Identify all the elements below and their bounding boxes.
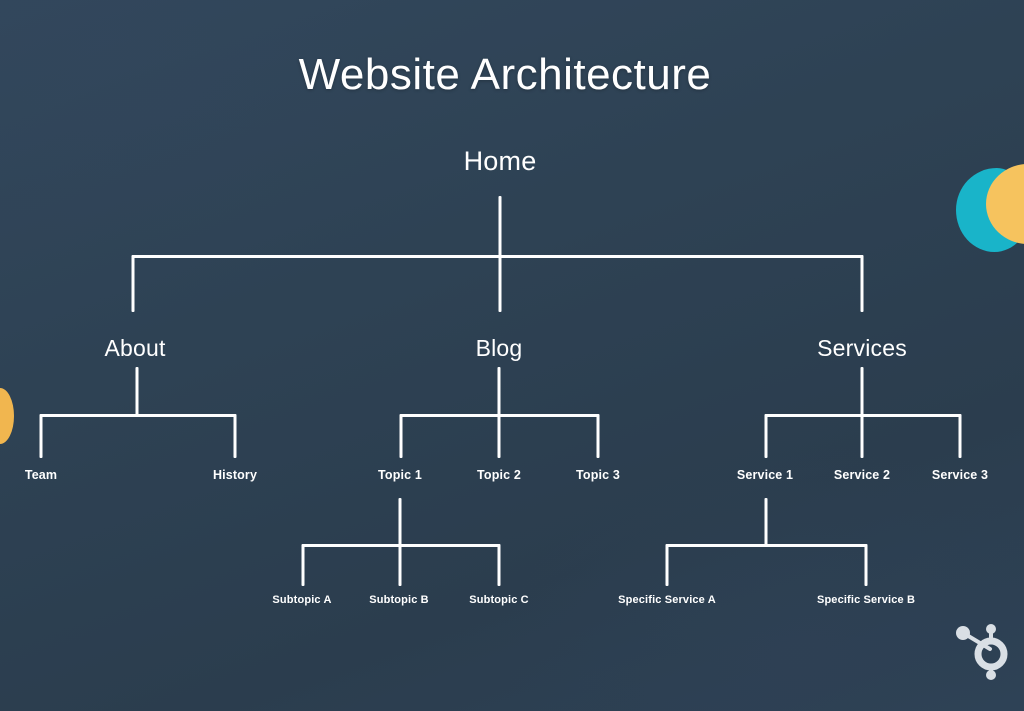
connector-services-stem — [861, 367, 864, 415]
node-subtopic-a[interactable]: Subtopic A — [272, 594, 331, 606]
node-team[interactable]: Team — [25, 468, 57, 482]
node-services[interactable]: Services — [817, 335, 907, 362]
connector-topic-1-stem — [399, 498, 402, 545]
hubspot-sprocket-logo — [950, 622, 1010, 680]
connector-drop-service-3 — [959, 414, 962, 458]
node-service-1[interactable]: Service 1 — [737, 468, 793, 482]
connector-drop-services — [861, 255, 864, 312]
connector-drop-subtopic-b — [399, 544, 402, 586]
node-subtopic-b[interactable]: Subtopic B — [369, 594, 429, 606]
connector-drop-blog — [499, 255, 502, 312]
connector-drop-specific-service-a — [666, 544, 669, 586]
connector-drop-topic-2 — [498, 414, 501, 458]
node-service-3[interactable]: Service 3 — [932, 468, 988, 482]
node-about[interactable]: About — [104, 335, 165, 362]
connector-drop-service-2 — [861, 414, 864, 458]
connector-drop-topic-3 — [597, 414, 600, 458]
page-title: Website Architecture — [299, 50, 712, 100]
connector-level1-bus — [132, 255, 863, 258]
connector-drop-history — [234, 414, 237, 458]
node-subtopic-c[interactable]: Subtopic C — [469, 594, 529, 606]
connector-about-bus — [40, 414, 236, 417]
node-service-2[interactable]: Service 2 — [834, 468, 890, 482]
node-home[interactable]: Home — [464, 146, 537, 177]
connector-home-stem — [499, 196, 502, 256]
connector-drop-subtopic-c — [498, 544, 501, 586]
connector-about-stem — [136, 367, 139, 415]
connector-drop-topic-1 — [400, 414, 403, 458]
node-blog[interactable]: Blog — [476, 335, 523, 362]
connector-drop-team — [40, 414, 43, 458]
connector-blog-stem — [498, 367, 501, 415]
connector-service-1-stem — [765, 498, 768, 545]
node-topic-2[interactable]: Topic 2 — [477, 468, 521, 482]
connector-specific-service-bus — [666, 544, 867, 547]
node-topic-1[interactable]: Topic 1 — [378, 468, 422, 482]
connector-drop-subtopic-a — [302, 544, 305, 586]
node-topic-3[interactable]: Topic 3 — [576, 468, 620, 482]
node-specific-service-b[interactable]: Specific Service B — [817, 594, 915, 606]
connector-drop-about — [132, 255, 135, 312]
connector-drop-service-1 — [765, 414, 768, 458]
node-history[interactable]: History — [213, 468, 257, 482]
decorative-blob-left-yellow — [0, 388, 14, 444]
node-specific-service-a[interactable]: Specific Service A — [618, 594, 716, 606]
connector-drop-specific-service-b — [865, 544, 868, 586]
diagram-canvas: Website Architecture Home About Blog Ser… — [0, 0, 1024, 711]
